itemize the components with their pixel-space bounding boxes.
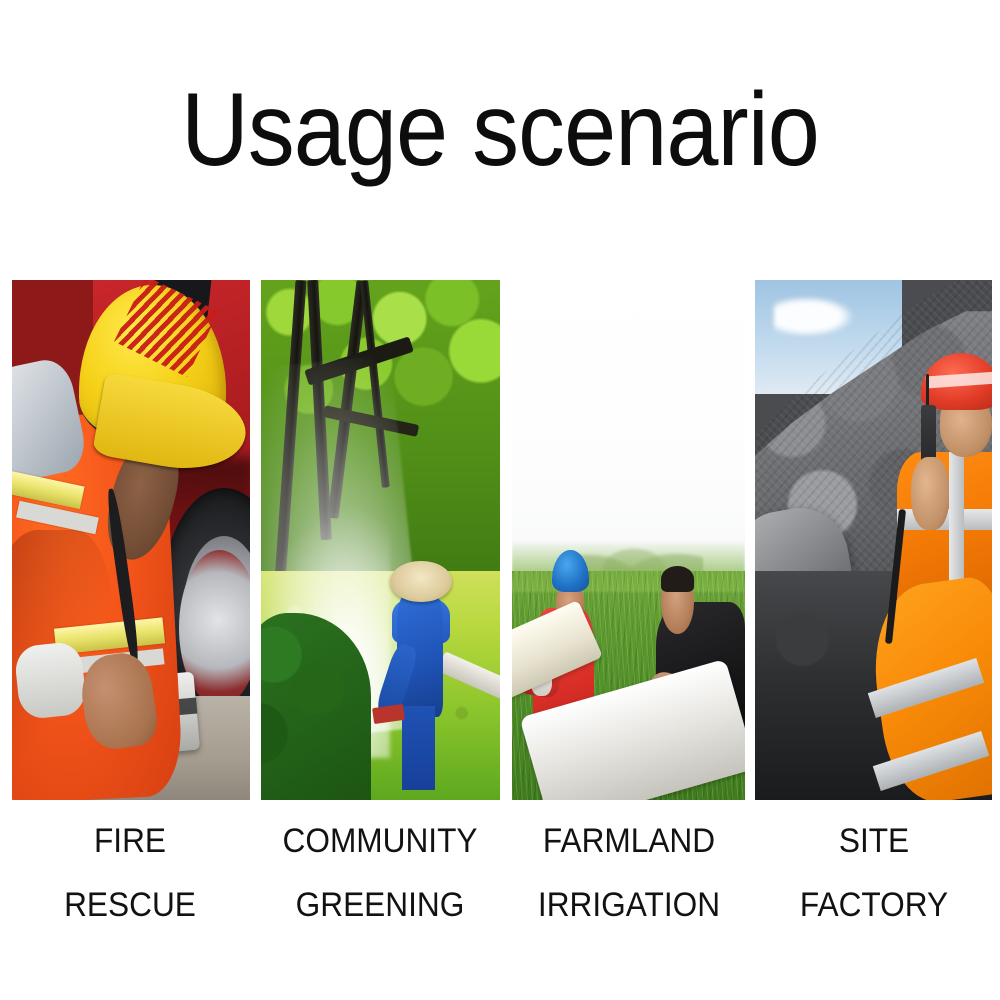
caption-line-2: FACTORY	[757, 882, 991, 928]
caption-site-factory: SITE FACTORY	[757, 818, 991, 928]
scenario-panel-fire-rescue[interactable]	[12, 280, 250, 800]
community-greening-photo	[261, 280, 500, 800]
fire-rescue-photo	[12, 280, 250, 800]
scenario-panel-farmland-irrigation[interactable]	[512, 280, 745, 800]
caption-farmland-irrigation: FARMLAND IRRIGATION	[509, 818, 749, 928]
cloud	[774, 296, 855, 338]
site-factory-photo	[755, 280, 992, 800]
worker-blue-trousers	[402, 706, 435, 789]
firefighter-glove	[13, 641, 87, 720]
caption-line-1: SITE	[757, 818, 991, 864]
caption-line-2: GREENING	[257, 882, 503, 928]
page-title: Usage scenario	[50, 78, 950, 182]
caption-line-1: FIRE	[11, 818, 249, 864]
site-worker-hand	[911, 457, 949, 530]
scenario-panel-site-factory[interactable]	[755, 280, 992, 800]
scenario-panel-strip	[0, 280, 1000, 800]
worker-black-hair	[661, 566, 694, 592]
caption-fire-rescue: FIRE RESCUE	[11, 818, 249, 928]
caption-line-2: RESCUE	[11, 882, 249, 928]
caption-line-1: FARMLAND	[509, 818, 749, 864]
caption-community-greening: COMMUNITY GREENING	[257, 818, 503, 928]
farmland-irrigation-photo	[512, 280, 745, 800]
caption-line-1: COMMUNITY	[257, 818, 503, 864]
caption-line-2: IRRIGATION	[509, 882, 749, 928]
scenario-panel-community-greening[interactable]	[261, 280, 500, 800]
